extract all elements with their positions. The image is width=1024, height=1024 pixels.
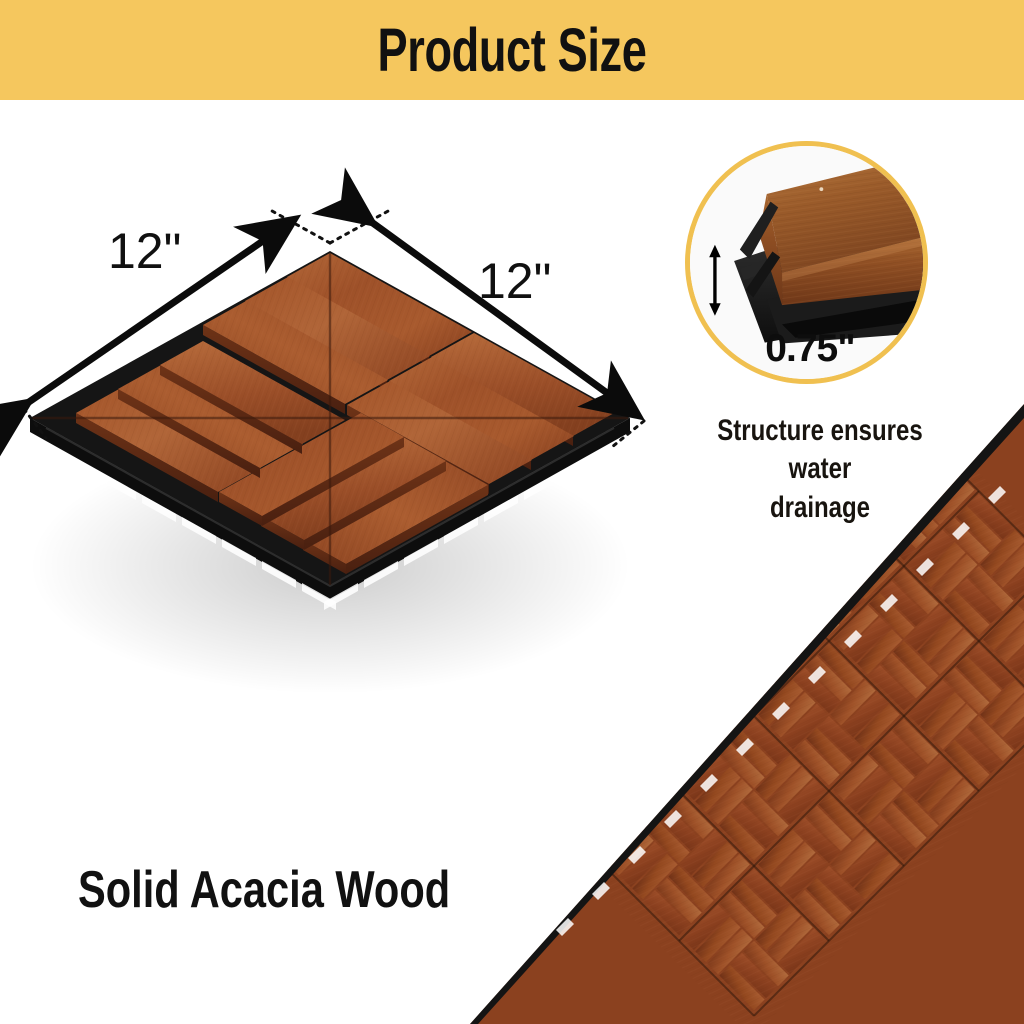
tile-quadrant-right — [347, 333, 616, 494]
extension-line-top-left — [272, 211, 330, 243]
dimension-arrow-depth — [370, 221, 636, 414]
extension-line-top-right — [330, 210, 390, 243]
page-title: Product Size — [133, 0, 891, 100]
extension-line-right — [612, 421, 644, 447]
extension-line-left — [24, 409, 46, 438]
tile-quadrant-top — [203, 253, 472, 414]
tile-quadrant-bottom — [219, 413, 488, 574]
drainage-caption-line1: Structure ensures water — [692, 412, 948, 489]
thickness-label: 0.75" — [700, 327, 920, 371]
drainage-caption: Structure ensures water drainage — [660, 412, 980, 527]
dimension-label-width: 12" — [108, 222, 181, 280]
tile-quadrant-left — [76, 341, 345, 502]
material-label: Solid Acacia Wood — [78, 860, 450, 920]
drainage-caption-line2: drainage — [692, 489, 948, 527]
dimension-label-depth: 12" — [478, 252, 551, 310]
header-banner: Product Size — [0, 0, 1024, 100]
tile-shadow — [30, 438, 630, 694]
infographic-canvas: Product Size — [0, 0, 1024, 1024]
